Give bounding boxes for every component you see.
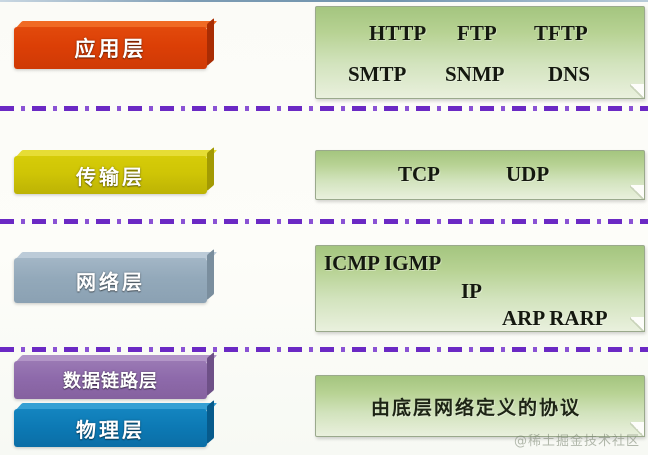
layer-label-transport: 传输层	[76, 161, 145, 190]
layer-plate-network[interactable]: 网络层	[14, 258, 207, 303]
protocol-icmp-igmp: ICMP IGMP	[324, 251, 441, 276]
plate-face: 网络层	[14, 258, 207, 303]
layer-label-datalink: 数据链路层	[63, 367, 158, 393]
plate-face: 传输层	[14, 156, 207, 194]
protocol-udp: UDP	[506, 162, 549, 187]
plate-side-bevel	[207, 147, 214, 191]
plate-side-bevel	[207, 18, 214, 66]
layer-separator-2	[0, 218, 648, 224]
plate-side-bevel	[207, 400, 214, 444]
page-fold-corner	[630, 317, 645, 332]
plate-face: 物理层	[14, 409, 207, 447]
layer-plate-transport[interactable]: 传输层	[14, 156, 207, 194]
protocol-ip: IP	[461, 279, 482, 304]
plate-side-bevel	[207, 352, 214, 396]
protocol-card-transport: TCP UDP	[315, 150, 645, 200]
protocol-http: HTTP	[369, 21, 426, 46]
protocol-dns: DNS	[548, 62, 590, 87]
protocol-tftp: TFTP	[534, 21, 588, 46]
plate-side-bevel	[207, 249, 214, 300]
protocol-card-link-physical: 由底层网络定义的协议	[315, 375, 645, 437]
protocol-card-application: HTTP FTP TFTP SMTP SNMP DNS	[315, 6, 645, 99]
lower-layer-protocol-text: 由底层网络定义的协议	[371, 393, 581, 420]
layer-label-physical: 物理层	[76, 414, 145, 443]
layer-label-application: 应用层	[75, 33, 147, 63]
page-fold-corner	[630, 84, 645, 99]
page-fold-corner	[630, 185, 645, 200]
watermark: @稀土掘金技术社区	[514, 430, 640, 449]
layer-label-network: 网络层	[76, 266, 145, 295]
protocol-card-network: ICMP IGMP IP ARP RARP	[315, 245, 645, 332]
layer-plate-application[interactable]: 应用层	[14, 27, 207, 69]
plate-face: 应用层	[14, 27, 207, 69]
layer-plate-physical[interactable]: 物理层	[14, 409, 207, 447]
plate-face: 数据链路层	[14, 361, 207, 399]
protocol-tcp: TCP	[398, 162, 440, 187]
protocol-smtp: SMTP	[348, 62, 406, 87]
protocol-snmp: SNMP	[445, 62, 505, 87]
protocol-arp-rarp: ARP RARP	[502, 306, 608, 331]
top-edge-rule	[0, 0, 648, 2]
protocol-ftp: FTP	[457, 21, 497, 46]
layer-plate-datalink[interactable]: 数据链路层	[14, 361, 207, 399]
diagram-canvas: 应用层 传输层 网络层 数据链路层 物理层 HTTP	[0, 0, 648, 455]
layer-separator-1	[0, 105, 648, 111]
layer-separator-3	[0, 346, 648, 352]
